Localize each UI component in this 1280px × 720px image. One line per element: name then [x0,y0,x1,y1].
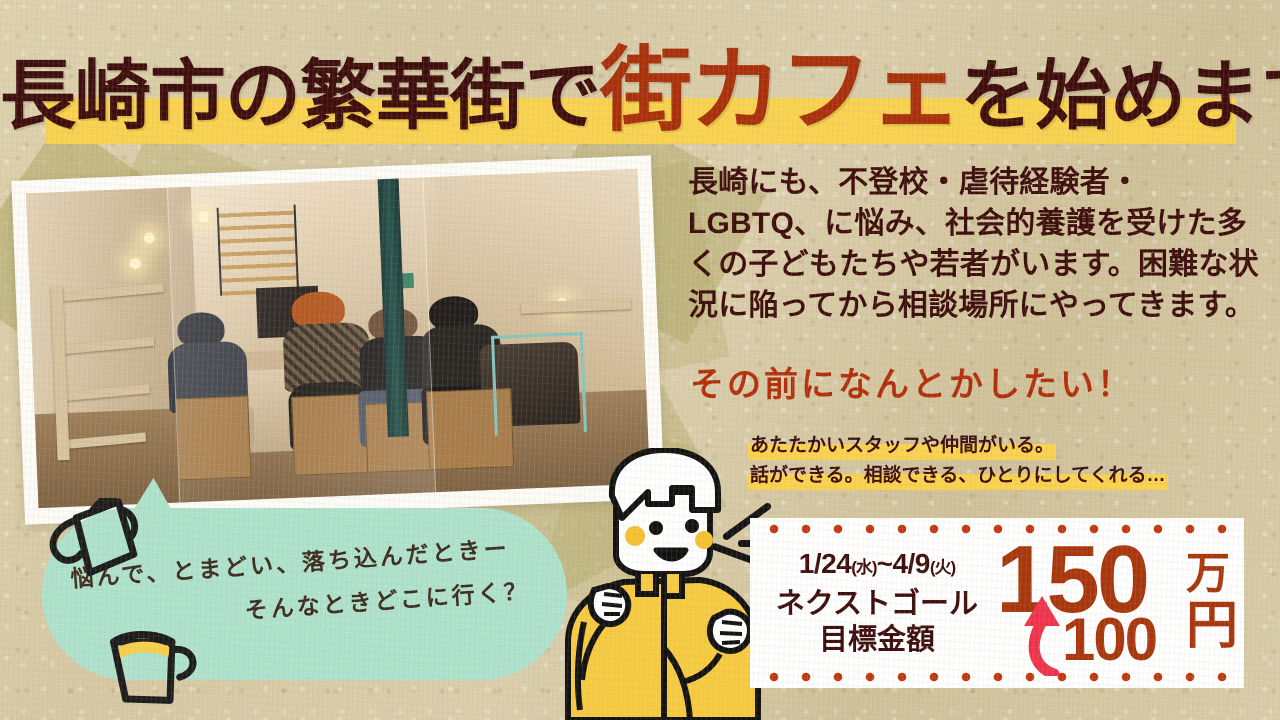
unit-man: 万 [1186,552,1230,596]
poster-canvas: 長崎市の繁華街で街カフェを始めます! [0,0,1280,720]
headline-part-1: 長崎市の繁華街で [0,54,600,139]
unit-yen: 円 [1186,600,1238,652]
goal-label-line-1: ネクストゴール [764,586,990,623]
body-paragraph: 長崎にも、不登校・虐待経験者・LGBTQ、に悩み、社会的養護を受けた多くの子ども… [688,162,1263,326]
campaign-date-range: 1/24(水)~4/9(火) [764,546,990,586]
cafe-photo [26,169,650,508]
price-card-right: 150 万 円 100 [990,530,1240,680]
highlighted-text-block: あたたかいスタッフや仲間がいる。 話ができる。相談できる、ひとりにしてくれる… [748,432,1268,492]
highlight-line-2: 話ができる。相談できる、ひとりにしてくれる… [748,462,1168,490]
old-goal-amount: 100 [1062,610,1156,670]
up-arrow-icon [1020,596,1072,676]
highlight-line-1: あたたかいスタッフや仲間がいる。 [748,432,1056,460]
teapot-icon [40,498,144,590]
date-start-weekday: (水) [851,558,876,577]
date-end-weekday: (火) [930,558,955,577]
date-end: 4/9 [892,548,929,579]
page-title: 長崎市の繁華街で街カフェを始めます! [0,36,1280,152]
date-start: 1/24 [799,548,852,579]
price-card: 1/24(水)~4/9(火) ネクストゴール 目標金額 150 万 円 100 [750,518,1244,688]
headline-part-2: を始めます! [960,54,1280,139]
price-card-left: 1/24(水)~4/9(火) ネクストゴール 目標金額 [764,546,990,658]
goal-label-line-2: 目標金額 [764,623,990,658]
sub-headline: その前になんとかしたい！ [690,357,1265,406]
headline-block: 長崎市の繁華街で街カフェを始めます! [0,36,1280,152]
date-separator: ~ [877,548,893,579]
headline-accent: 街カフェ [600,40,960,142]
mug-icon [100,618,204,708]
